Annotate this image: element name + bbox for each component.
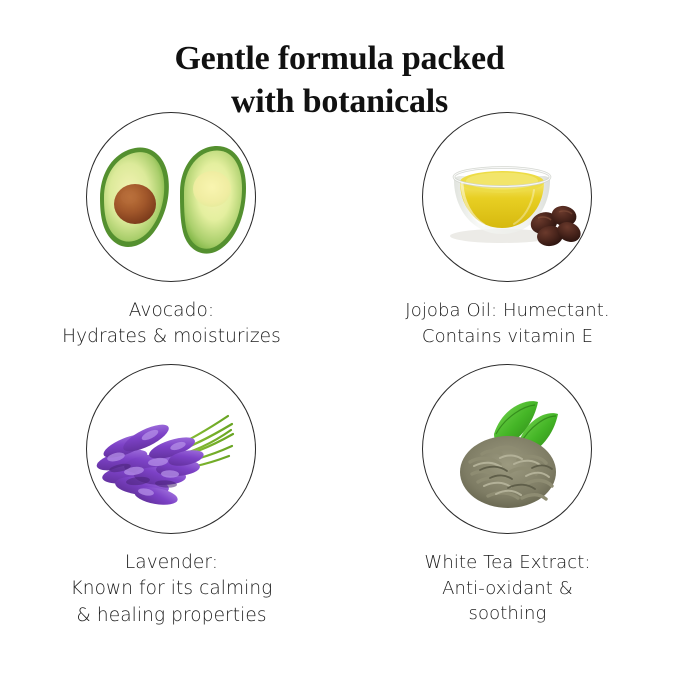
page-title: Gentle formula packed with botanicals xyxy=(0,38,679,124)
lavender-caption-line-1: Lavender: xyxy=(2,550,341,576)
ingredient-card-avocado: Avocado: Hydrates & moisturizes xyxy=(2,112,341,351)
jojoba-oil-circle xyxy=(422,112,594,284)
avocado-circle xyxy=(86,112,258,284)
ingredients-infographic: Gentle formula packed with botanicals xyxy=(0,0,679,679)
avocado-caption: Avocado: Hydrates & moisturizes xyxy=(2,298,341,351)
ingredient-grid: Avocado: Hydrates & moisturizes xyxy=(0,112,679,672)
lavender-caption-line-2: Known for its calming xyxy=(2,576,341,602)
ingredient-card-white-tea-extract: White Tea Extract: Anti-oxidant & soothi… xyxy=(338,364,677,627)
white-tea-caption-line-3: soothing xyxy=(338,601,677,627)
oil-bowl-with-seeds-image xyxy=(422,112,594,284)
white-tea-circle xyxy=(422,364,594,536)
avocado-half-right xyxy=(180,146,246,254)
lavender-caption-line-3: & healing properties xyxy=(2,603,341,629)
jojoba-oil-caption: Jojoba Oil: Humectant. Contains vitamin … xyxy=(338,298,677,349)
ingredient-card-lavender: Lavender: Known for its calming & healin… xyxy=(2,364,341,629)
lavender-circle xyxy=(86,364,258,536)
lavender-flowers xyxy=(94,419,204,507)
ingredient-card-jojoba-oil: Jojoba Oil: Humectant. Contains vitamin … xyxy=(338,112,677,349)
page-title-line-1: Gentle formula packed xyxy=(0,38,679,81)
avocado-halves-image xyxy=(86,112,258,284)
white-tea-caption: White Tea Extract: Anti-oxidant & soothi… xyxy=(338,550,677,627)
avocado-caption-line-1: Avocado: xyxy=(2,298,341,324)
white-tea-caption-line-1: White Tea Extract: xyxy=(338,550,677,576)
avocado-half-left xyxy=(100,148,169,247)
jojoba-oil-caption-line-1: Jojoba Oil: Humectant. xyxy=(338,298,677,324)
lavender-bundle-image xyxy=(86,364,258,536)
jojoba-oil-caption-line-2: Contains vitamin E xyxy=(338,324,677,350)
avocado-caption-line-2: Hydrates & moisturizes xyxy=(2,324,341,350)
dried-tea-leaves-image xyxy=(422,364,594,536)
white-tea-caption-line-2: Anti-oxidant & xyxy=(338,576,677,602)
lavender-caption: Lavender: Known for its calming & healin… xyxy=(2,550,341,629)
